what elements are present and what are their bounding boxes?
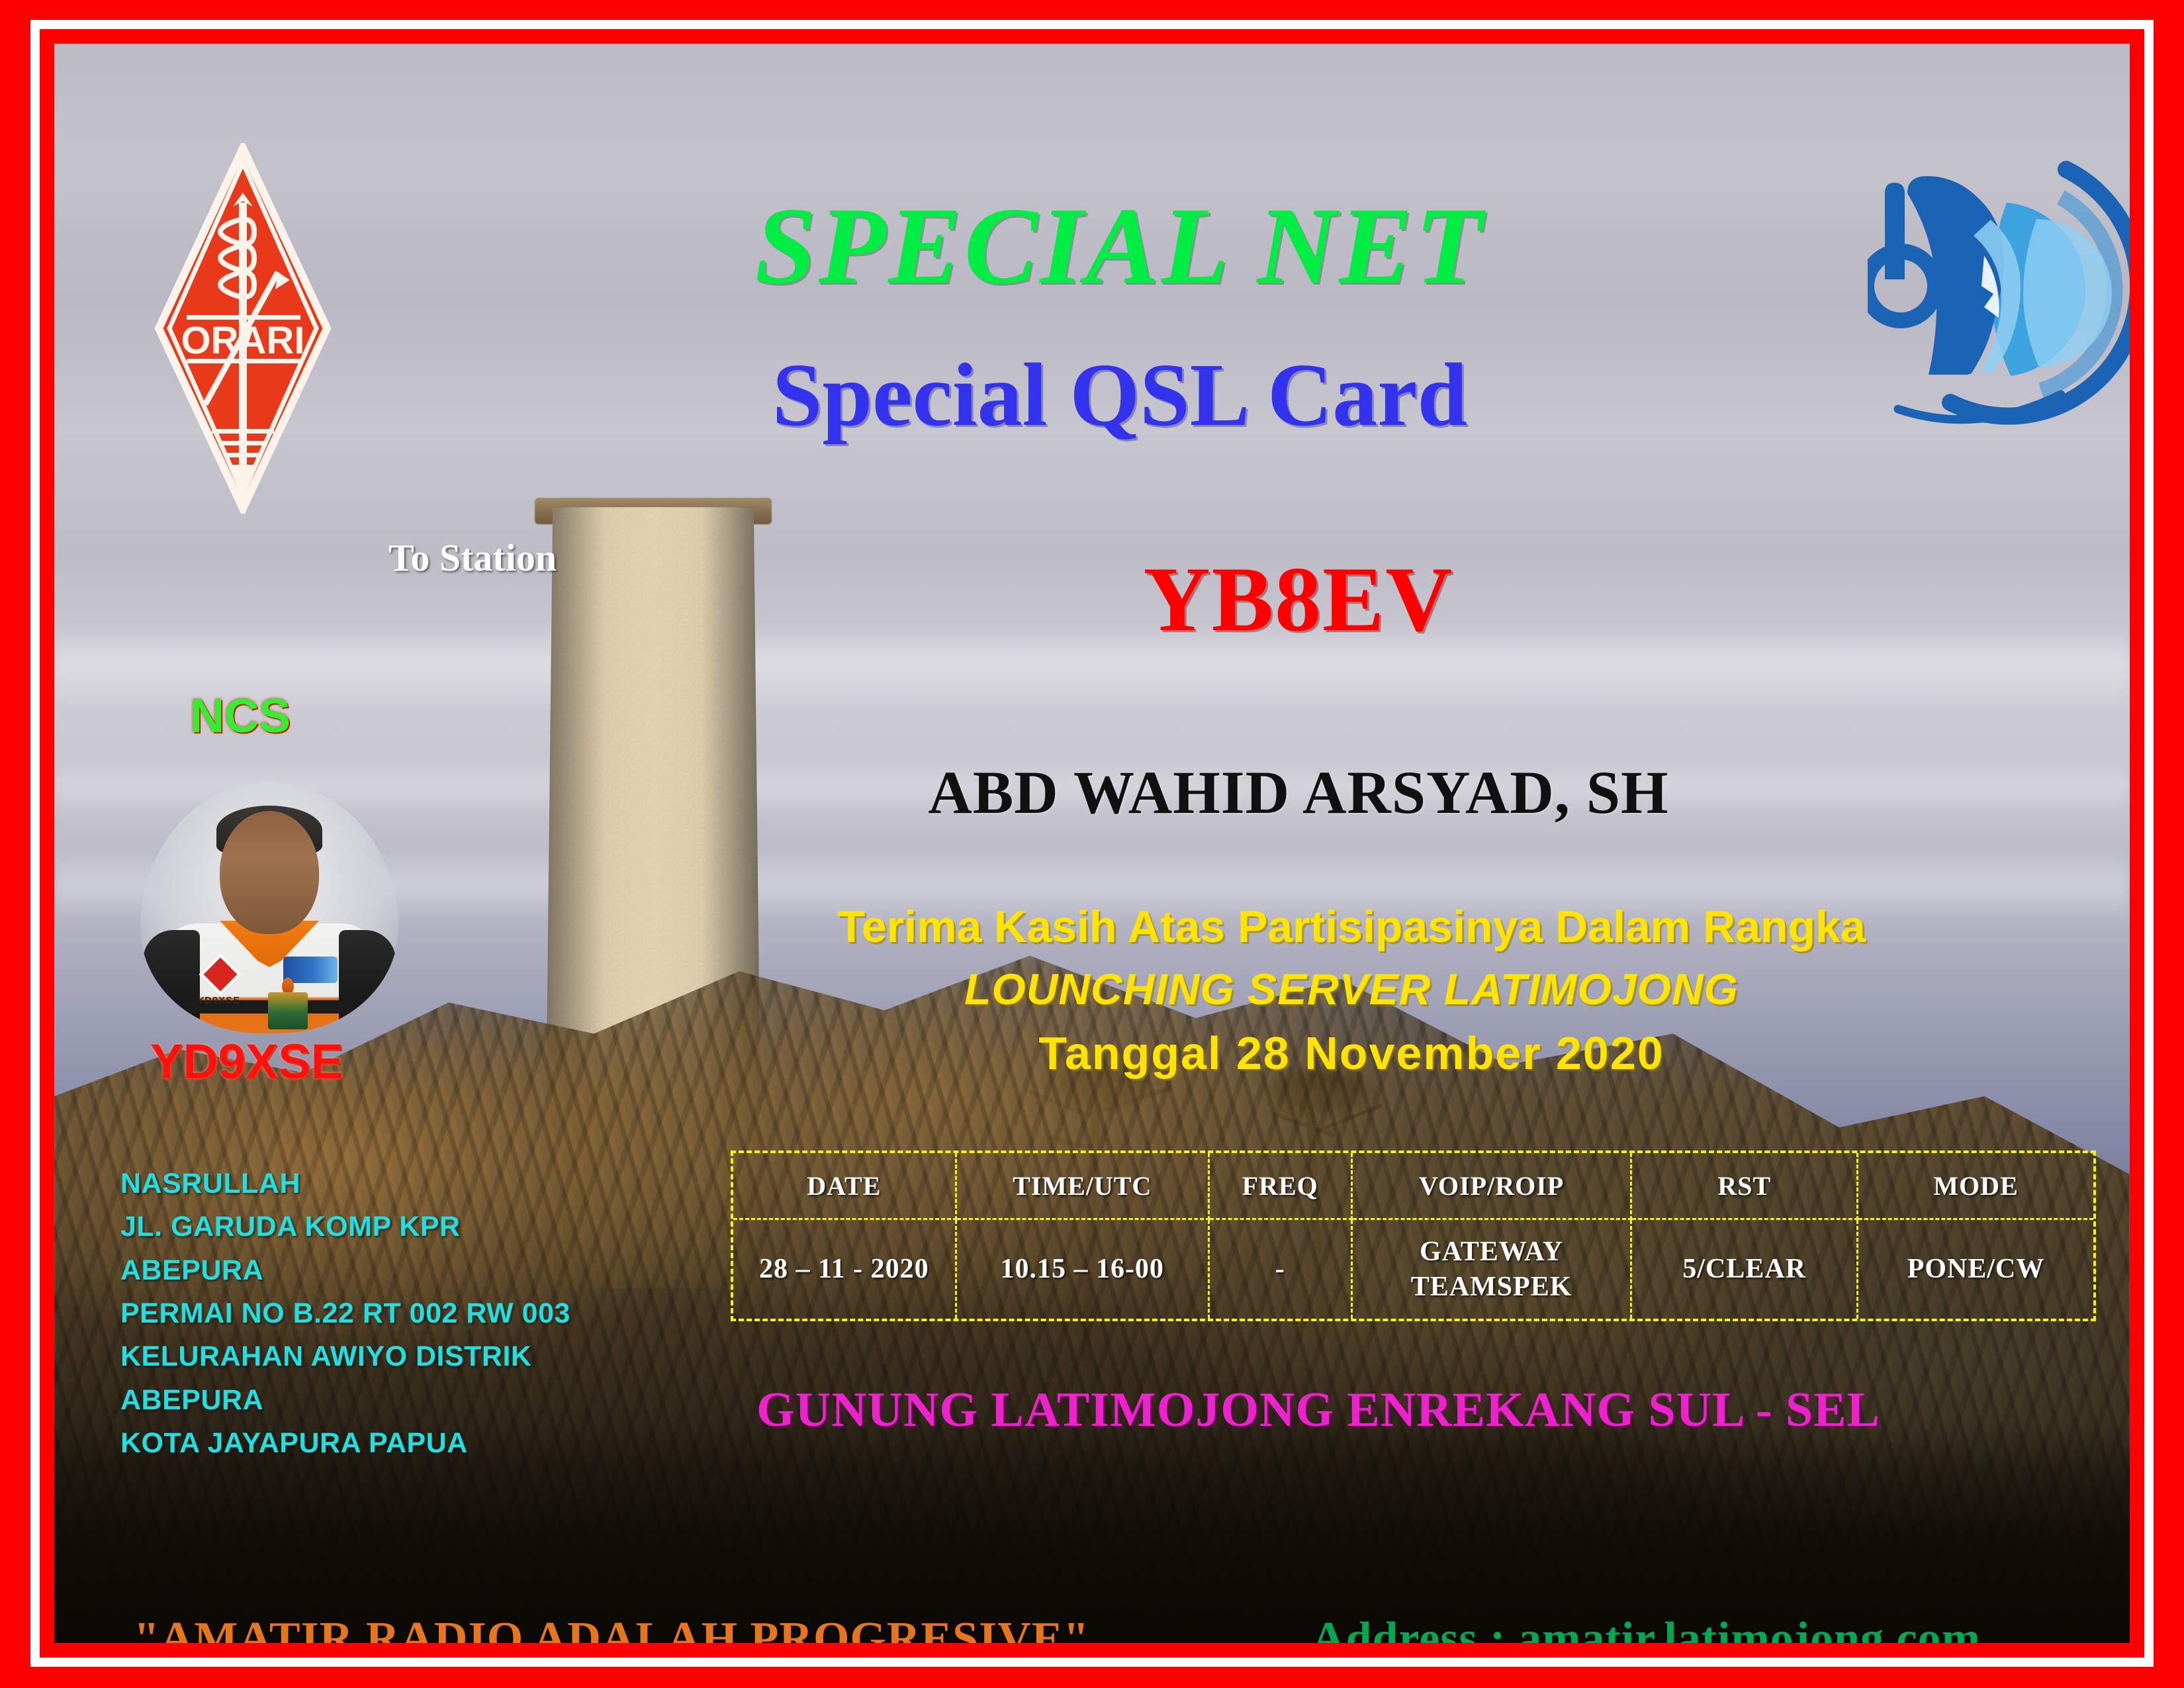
cell-date: 28 – 11 - 2020 [733, 1219, 956, 1319]
location-line: GUNUNG LATIMOJONG ENREKANG SUL - SEL [690, 1382, 1947, 1438]
column-header-mode: MODE [1858, 1153, 2093, 1219]
column-header-voip-roip: VOIP/ROIP [1351, 1153, 1631, 1219]
column-header-time: TIME/UTC [956, 1153, 1208, 1219]
column-header-freq: FREQ [1208, 1153, 1351, 1219]
qso-table: DATE TIME/UTC FREQ VOIP/ROIP RST MODE 28… [731, 1150, 2096, 1321]
page-subtitle: Special QSL Card [491, 348, 1749, 443]
address-line: KOTA JAYAPURA PAPUA [120, 1422, 690, 1465]
qsl-card: ORARI [0, 0, 2184, 1688]
event-date: Tanggal 28 November 2020 [756, 1030, 1947, 1076]
uniform-shoulder-left [143, 930, 200, 1029]
station-callsign: YB8EV [835, 553, 1762, 646]
cell-time: 10.15 – 16-00 [956, 1219, 1208, 1319]
cell-mode: PONE/CW [1858, 1219, 2093, 1319]
to-station-label: To Station [388, 536, 557, 580]
thanks-line: Terima Kasih Atas Partisipasinya Dalam R… [756, 904, 1947, 949]
cell-freq: - [1208, 1219, 1351, 1319]
orari-logo-text: ORARI [181, 319, 305, 362]
address-line: NASRULLAH [120, 1162, 690, 1205]
orari-logo: ORARI [154, 143, 332, 514]
table-row: 28 – 11 - 2020 10.15 – 16-00 - GATEWAY T… [733, 1219, 2093, 1319]
card-inner-red-border: ORARI [40, 29, 2144, 1658]
voip-headset-logo [1868, 156, 2130, 434]
uniform-callsign-text: YD9XSE [197, 995, 240, 1006]
page-title: SPECIAL NET [491, 188, 1749, 303]
card-white-gap: ORARI [30, 20, 2154, 1667]
avatar: YD9XSE [140, 782, 398, 1033]
ncs-operator-photo: YD9XSE [140, 782, 398, 1033]
address-line: PERMAI NO B.22 RT 002 RW 003 [120, 1292, 690, 1335]
address-block: NASRULLAH JL. GARUDA KOMP KPR ABEPURA PE… [120, 1162, 690, 1466]
event-title: LOUNCHING SERVER LATIMOJONG [756, 967, 1947, 1011]
column-header-date: DATE [733, 1153, 956, 1219]
column-header-rst: RST [1631, 1153, 1858, 1219]
website-address: Address : amatir.latimojong.com [1312, 1613, 1981, 1643]
id-card [268, 992, 308, 1029]
uniform-shoulder-right [339, 930, 396, 1029]
cell-rst: 5/CLEAR [1631, 1219, 1858, 1319]
address-line: KELURAHAN AWIYO DISTRIK [120, 1335, 690, 1378]
table-header-row: DATE TIME/UTC FREQ VOIP/ROIP RST MODE [733, 1153, 2093, 1219]
card-photo-area: ORARI [54, 44, 2130, 1643]
address-line: JL. GARUDA KOMP KPR [120, 1205, 690, 1248]
address-line: ABEPURA [120, 1249, 690, 1292]
ncs-callsign: YD9XSE [150, 1033, 343, 1090]
cell-voip-roip: GATEWAY TEAMSPEK [1351, 1219, 1631, 1319]
address-line: ABEPURA [120, 1379, 690, 1422]
operator-face [220, 811, 319, 934]
ncs-label: NCS [190, 689, 291, 743]
operator-name: ABD WAHID ARSYAD, SH [782, 762, 1815, 823]
club-motto: "AMATIR RADIO ADALAH PROGRESIVE" [134, 1613, 1089, 1643]
